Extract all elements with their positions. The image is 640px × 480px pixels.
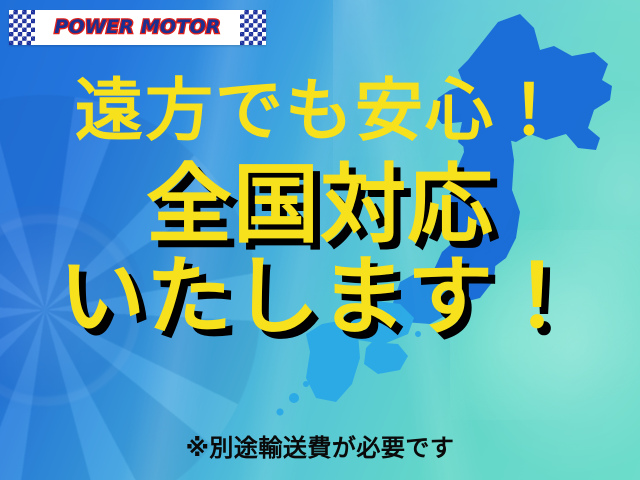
logo-plate: POWER MOTOR <box>35 10 240 45</box>
checkered-flag-right-icon <box>240 10 266 45</box>
promo-banner: POWER MOTOR 遠方でも安心！ 全国対応 いたします！ ※別途輸送費が必… <box>0 0 640 480</box>
footnote-text: ※別途輸送費が必要です <box>0 428 640 463</box>
background-foliage-blur <box>450 230 640 420</box>
checkered-flag-left-icon <box>9 10 35 45</box>
brand-logo-banner: POWER MOTOR <box>9 10 266 45</box>
brand-name: POWER MOTOR <box>54 18 220 37</box>
